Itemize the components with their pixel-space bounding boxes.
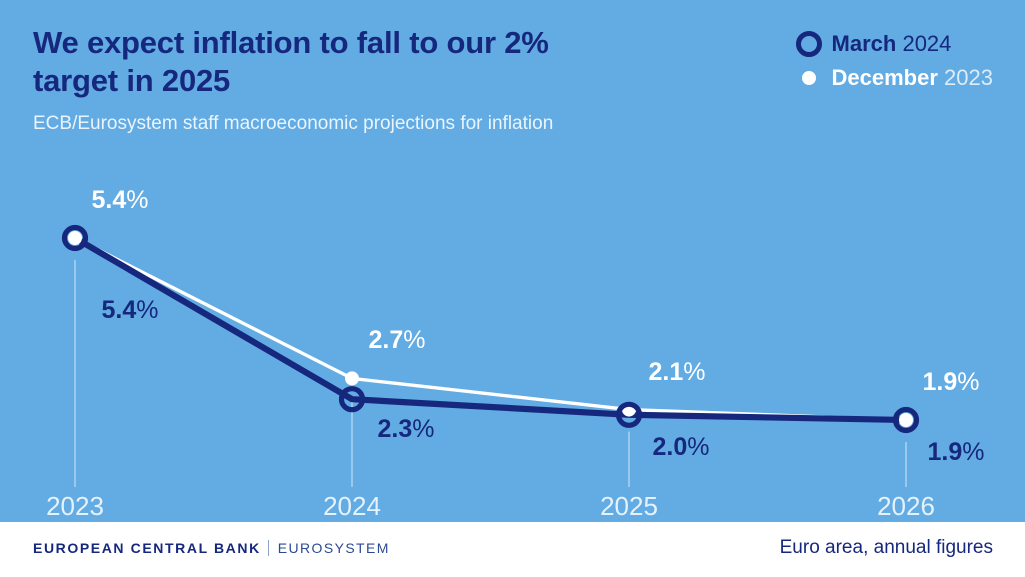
value-label-march-2024: 1.9% (928, 438, 985, 467)
logo-primary-text: EUROPEAN CENTRAL BANK (33, 540, 261, 556)
chart-svg (0, 0, 1025, 522)
data-point-december-2023[interactable] (345, 371, 359, 385)
logo-secondary-text: EUROSYSTEM (278, 540, 390, 556)
infographic-canvas: We expect inflation to fall to our 2% ta… (0, 0, 1025, 577)
value-label-march-2024: 2.0% (653, 433, 710, 462)
value-label-december-2023: 5.4% (92, 186, 149, 215)
series-markers-march-2024 (65, 228, 917, 431)
value-label-march-2024: 2.3% (378, 415, 435, 444)
value-label-december-2023: 2.1% (649, 358, 706, 387)
value-label-december-2023: 2.7% (369, 326, 426, 355)
value-label-march-2024: 5.4% (102, 296, 159, 325)
footer-note: Euro area, annual figures (780, 537, 993, 559)
data-point-december-2023[interactable] (899, 413, 913, 427)
gridlines (75, 260, 906, 487)
value-label-december-2023: 1.9% (923, 368, 980, 397)
ecb-logo: EUROPEAN CENTRAL BANK EUROSYSTEM (33, 540, 390, 556)
line-chart: 5.4%2.7%2.1%1.9%5.4%2.3%2.0%1.9% 2023202… (0, 0, 1025, 522)
logo-divider (268, 540, 269, 556)
series-markers-december-2023 (68, 231, 913, 427)
data-point-december-2023[interactable] (68, 231, 82, 245)
footer-bar: EUROPEAN CENTRAL BANK EUROSYSTEM Euro ar… (0, 522, 1025, 577)
series-line-december-2023 (75, 238, 906, 420)
x-tick-2023: 2023 (46, 491, 104, 522)
series-path (75, 238, 906, 420)
x-tick-2024: 2024 (323, 491, 381, 522)
x-tick-2026: 2026 (877, 491, 935, 522)
x-tick-2025: 2025 (600, 491, 658, 522)
